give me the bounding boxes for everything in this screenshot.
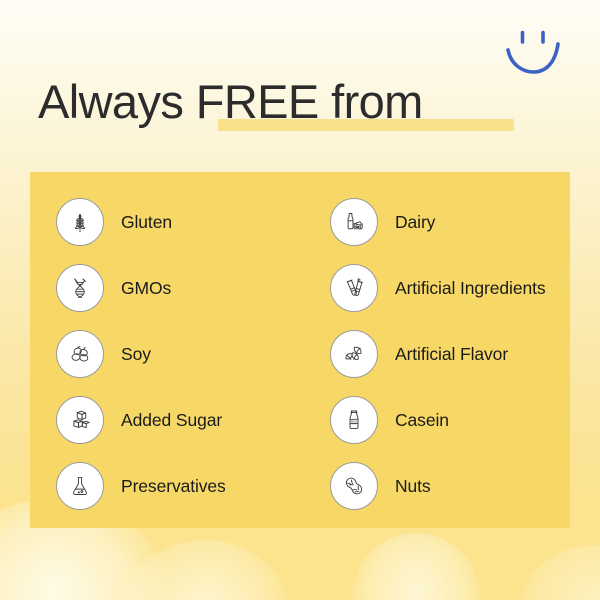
list-item: MILK Casein [330, 396, 449, 444]
list-item-label: Dairy [395, 212, 435, 233]
list-item-label: Soy [121, 344, 151, 365]
list-item: Dairy [330, 198, 435, 246]
title-text: Always FREE from [38, 73, 423, 131]
page-title: Always FREE from [38, 73, 423, 135]
smiley-face-icon [495, 18, 573, 80]
list-item-label: Preservatives [121, 476, 226, 497]
wheat-icon [56, 198, 104, 246]
list-item-label: Artificial Flavor [395, 344, 508, 365]
list-item: Added Sugar [56, 396, 222, 444]
background-glow-center [352, 533, 480, 600]
leaves-icon [330, 330, 378, 378]
background-glow-left-2 [120, 540, 290, 600]
list-item: Artificial Flavor [330, 330, 508, 378]
soybeans-icon [56, 330, 104, 378]
list-item-label: Artificial Ingredients [395, 278, 546, 299]
test-tubes-icon [330, 264, 378, 312]
dna-helix-icon [56, 264, 104, 312]
svg-text:MILK: MILK [351, 419, 358, 423]
list-item-label: Casein [395, 410, 449, 431]
peanut-icon [330, 462, 378, 510]
list-item-label: Nuts [395, 476, 431, 497]
list-item: Soy [56, 330, 151, 378]
list-item: Preservatives [56, 462, 226, 510]
milk-bottle-cheese-icon [330, 198, 378, 246]
right-column: Dairy [308, 172, 570, 528]
flask-icon [56, 462, 104, 510]
milk-bottle-icon: MILK [330, 396, 378, 444]
list-item-label: Added Sugar [121, 410, 222, 431]
list-item: Gluten [56, 198, 172, 246]
left-column: Gluten [30, 172, 308, 528]
list-item: Nuts [330, 462, 431, 510]
list-item-label: GMOs [121, 278, 171, 299]
promo-graphic: Always FREE from [0, 0, 600, 600]
list-item: Artificial Ingredients [330, 264, 546, 312]
list-item-label: Gluten [121, 212, 172, 233]
sugar-cubes-icon [56, 396, 104, 444]
list-item: GMOs [56, 264, 171, 312]
background-glow-right [520, 545, 600, 600]
free-from-panel: Gluten [30, 172, 570, 528]
